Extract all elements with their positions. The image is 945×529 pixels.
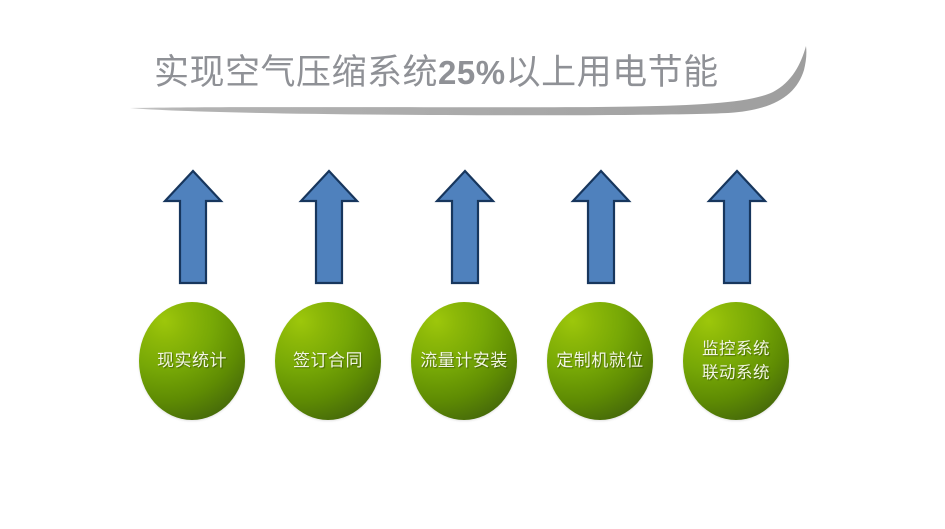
process-step[interactable]: 现实统计	[133, 168, 251, 424]
step-label: 签订合同	[293, 350, 363, 372]
step-label: 现实统计	[157, 350, 227, 372]
step-circle[interactable]: 流量计安装	[411, 302, 517, 420]
process-step[interactable]: 签订合同	[269, 168, 387, 424]
up-arrow-icon	[570, 168, 632, 286]
step-label: 流量计安装	[420, 350, 508, 372]
step-label: 监控系统 联动系统	[702, 337, 770, 385]
step-circle[interactable]: 监控系统 联动系统	[683, 302, 789, 420]
process-step[interactable]: 流量计安装	[405, 168, 523, 424]
up-arrow-icon	[434, 168, 496, 286]
process-step-row: 现实统计 签订合同 流量计安装 定	[0, 0, 945, 529]
process-step[interactable]: 定制机就位	[541, 168, 659, 424]
up-arrow-icon	[706, 168, 768, 286]
step-circle[interactable]: 签订合同	[275, 302, 381, 420]
up-arrow-icon	[298, 168, 360, 286]
up-arrow-icon	[162, 168, 224, 286]
presentation-slide: 实现空气压缩系统25%以上用电节能 现实统计 签订合同	[0, 0, 945, 529]
process-step[interactable]: 监控系统 联动系统	[677, 168, 795, 424]
step-label: 定制机就位	[556, 350, 644, 372]
step-circle[interactable]: 定制机就位	[547, 302, 653, 420]
step-circle[interactable]: 现实统计	[139, 302, 245, 420]
